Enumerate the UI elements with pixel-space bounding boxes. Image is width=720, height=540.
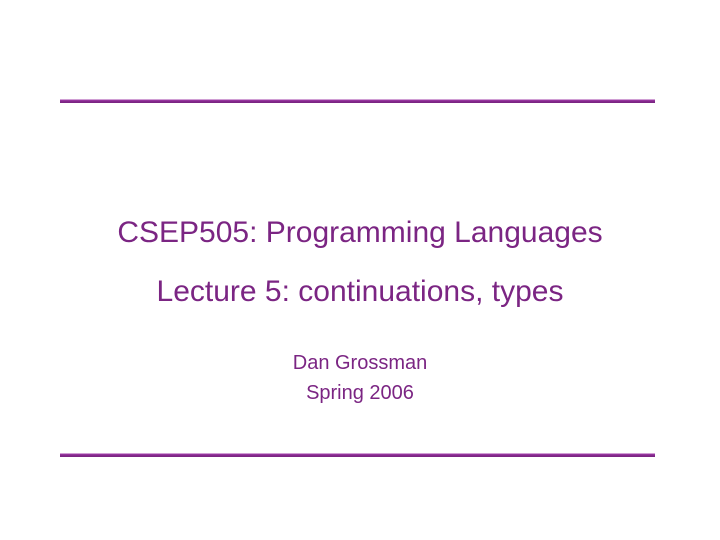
subtitle-term: Spring 2006 bbox=[50, 378, 670, 408]
title-slide: CSEP505: Programming Languages Lecture 5… bbox=[0, 0, 720, 540]
bottom-divider-rule bbox=[60, 453, 655, 457]
top-divider-rule bbox=[60, 99, 655, 103]
title-line-course: CSEP505: Programming Languages bbox=[50, 203, 670, 262]
subtitle-author: Dan Grossman bbox=[50, 348, 670, 378]
slide-title-block: CSEP505: Programming Languages Lecture 5… bbox=[50, 203, 670, 321]
title-line-lecture: Lecture 5: continuations, types bbox=[50, 262, 670, 321]
slide-subtitle-block: Dan Grossman Spring 2006 bbox=[50, 348, 670, 408]
